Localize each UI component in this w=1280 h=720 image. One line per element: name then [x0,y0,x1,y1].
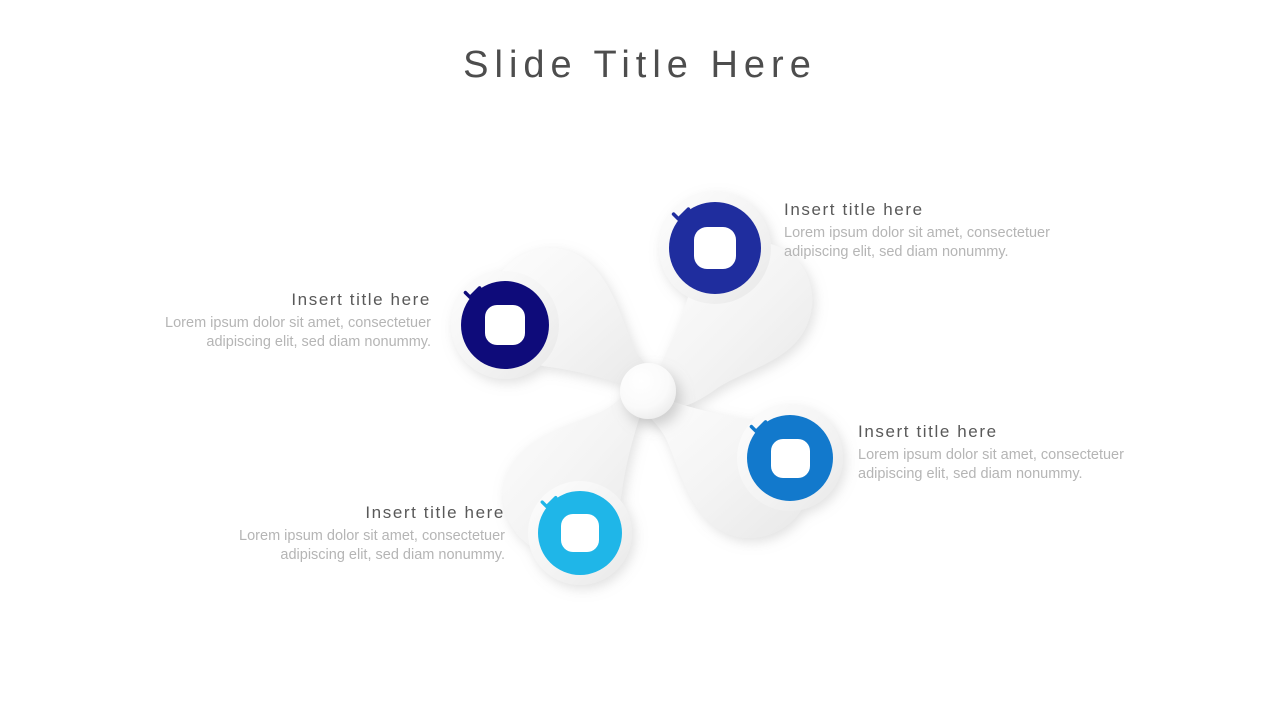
body-line-2: adipiscing elit, sed diam nonummy. [784,243,1094,262]
check-icon [694,227,736,269]
check-icon [771,439,810,478]
text-block-title: Insert title here [784,200,1094,220]
check-icon [485,305,525,345]
node-right[interactable] [747,415,833,501]
body-line-2: adipiscing elit, sed diam nonummy. [120,333,431,352]
body-line-1: Lorem ipsum dolor sit amet, consectetuer [194,527,505,546]
slide-canvas: Slide Title Here [0,0,1280,720]
text-block-body: Lorem ipsum dolor sit amet, consectetuer… [194,527,505,565]
body-line-1: Lorem ipsum dolor sit amet, consectetuer [120,314,431,333]
text-block-body: Lorem ipsum dolor sit amet, consectetuer… [120,314,431,352]
node-left[interactable] [461,281,549,369]
node-bottom[interactable] [538,491,622,575]
text-block-body: Lorem ipsum dolor sit amet, consectetuer… [784,224,1094,262]
text-block-bottom-left: Insert title here Lorem ipsum dolor sit … [194,503,505,565]
node-top[interactable] [669,202,761,294]
text-block-title: Insert title here [120,290,431,310]
check-icon [561,514,599,552]
page-title: Slide Title Here [0,44,1280,87]
body-line-2: adipiscing elit, sed diam nonummy. [858,465,1170,484]
body-line-2: adipiscing elit, sed diam nonummy. [194,546,505,565]
center-hub [620,363,676,419]
text-block-title: Insert title here [194,503,505,523]
text-block-body: Lorem ipsum dolor sit amet, consectetuer… [858,446,1170,484]
text-block-middle-left: Insert title here Lorem ipsum dolor sit … [120,290,431,352]
text-block-middle-right: Insert title here Lorem ipsum dolor sit … [858,422,1170,484]
body-line-1: Lorem ipsum dolor sit amet, consectetuer [784,224,1094,243]
body-line-1: Lorem ipsum dolor sit amet, consectetuer [858,446,1170,465]
text-block-top-right: Insert title here Lorem ipsum dolor sit … [784,200,1094,262]
text-block-title: Insert title here [858,422,1170,442]
